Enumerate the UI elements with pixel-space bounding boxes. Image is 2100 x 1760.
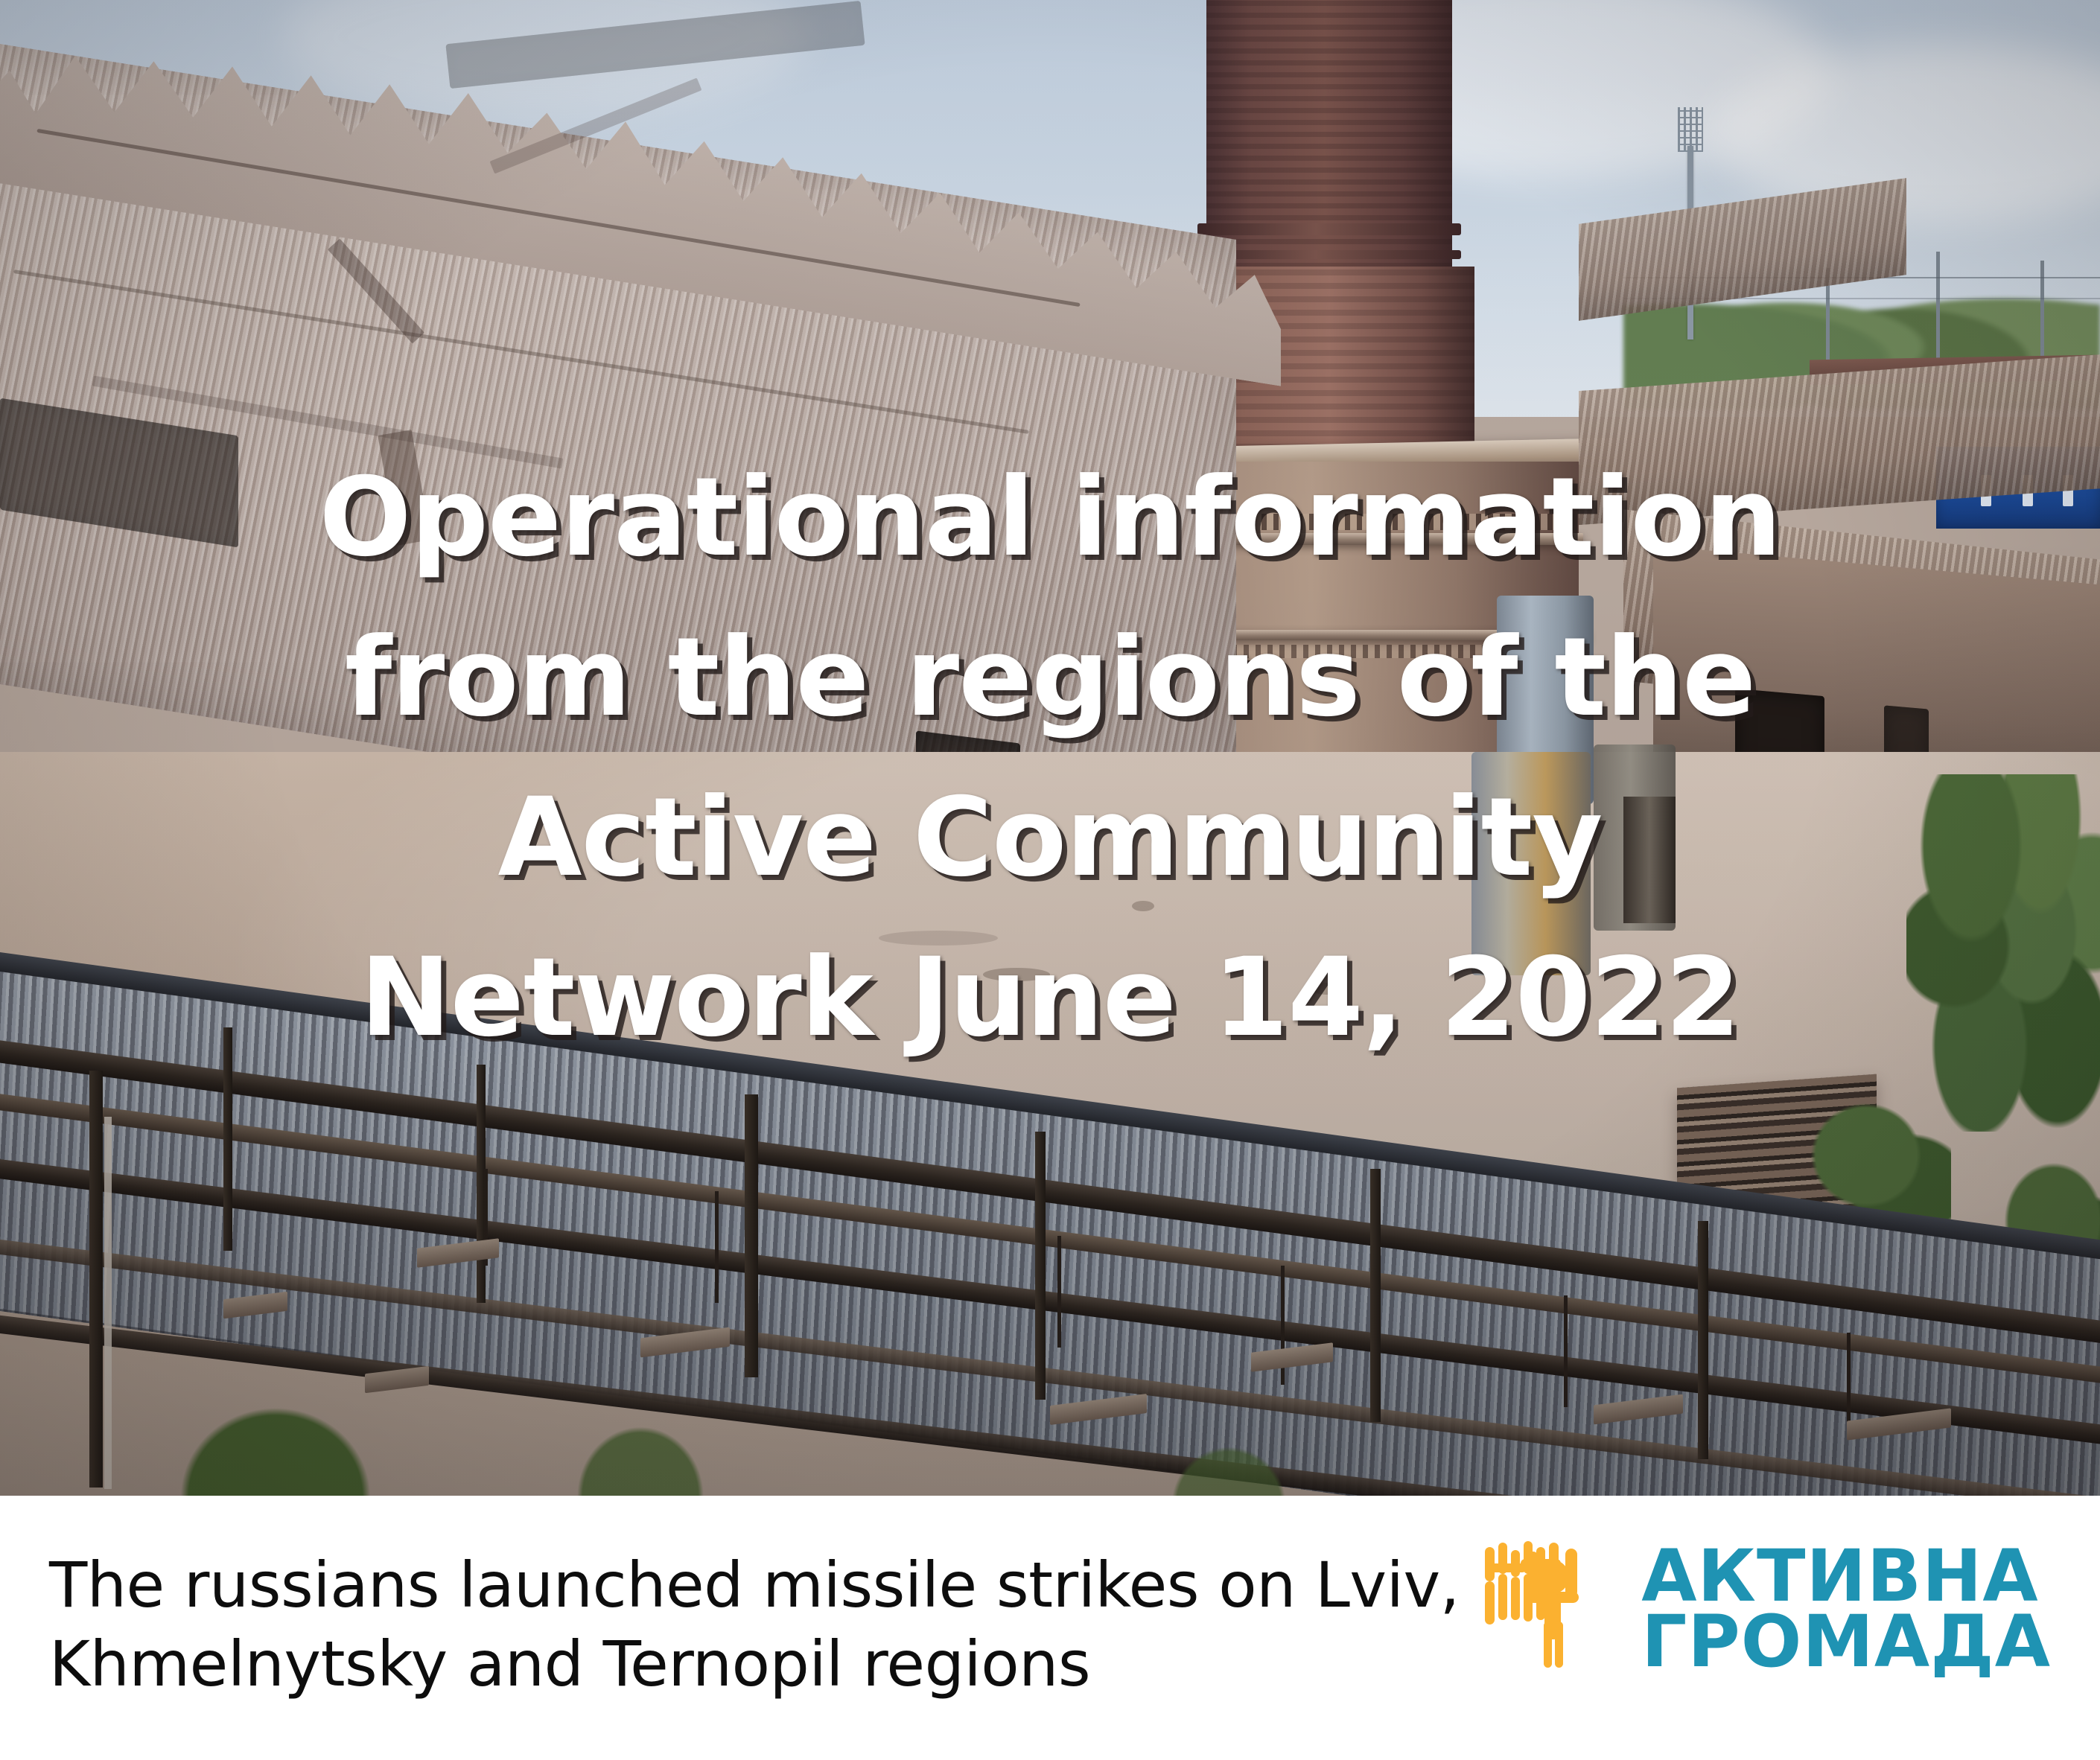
- caption-text: The russians launched missile strikes on…: [49, 1546, 1464, 1703]
- support-column: [745, 1094, 758, 1377]
- conveyor-hanger: [1564, 1295, 1568, 1407]
- support-column: [1370, 1169, 1381, 1422]
- support-column: [223, 1027, 232, 1251]
- logo-word-top: АКТИВНА: [1641, 1543, 2051, 1609]
- support-column: [89, 1071, 103, 1488]
- ground-debris: [879, 931, 998, 946]
- ground-debris: [983, 968, 1050, 981]
- grass: [566, 1415, 715, 1496]
- active-community-logo[interactable]: АКТИВНА ГРОМАДА: [1482, 1538, 2051, 1680]
- grass: [1162, 1437, 1296, 1496]
- utility-pole: [2040, 261, 2044, 365]
- ground-debris: [1311, 983, 1343, 995]
- grass: [164, 1392, 387, 1496]
- metal-drum: [1471, 752, 1591, 975]
- chimney-band: [1197, 250, 1461, 259]
- chimney-band: [1197, 223, 1461, 235]
- ground-debris: [1132, 901, 1154, 911]
- support-column: [1698, 1221, 1708, 1459]
- equipment-frame: [1623, 797, 1676, 923]
- conveyor-hanger: [715, 1191, 719, 1303]
- logo-word-bottom: ГРОМАДА: [1641, 1609, 2051, 1674]
- logo-wordmark: АКТИВНА ГРОМАДА: [1641, 1543, 2051, 1675]
- white-post: [104, 1117, 112, 1489]
- support-column: [1035, 1132, 1046, 1400]
- raised-arms-people-icon: [1482, 1538, 1622, 1680]
- utility-pole: [1936, 252, 1940, 363]
- slide-root: Operational information from the regions…: [0, 0, 2100, 1760]
- hero-photo: Operational information from the regions…: [0, 0, 2100, 1496]
- conveyor-hanger: [1057, 1236, 1061, 1348]
- bush: [1906, 774, 2100, 1132]
